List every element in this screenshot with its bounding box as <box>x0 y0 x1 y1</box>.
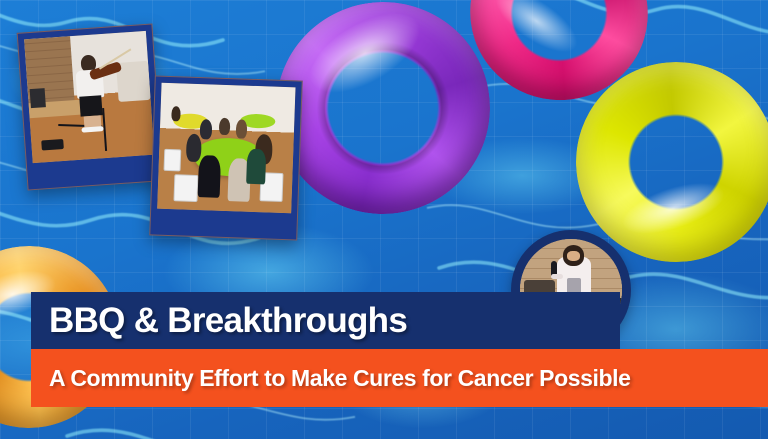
subtitle-banner: A Community Effort to Make Cures for Can… <box>31 349 768 407</box>
attendee <box>198 155 221 199</box>
poster-title: BBQ & Breakthroughs <box>49 301 407 341</box>
tables-photo-image <box>157 83 295 214</box>
violin-scene <box>24 31 154 163</box>
violinist-shorts <box>79 95 103 117</box>
amplifier <box>30 88 46 109</box>
speaker-arm <box>551 274 563 279</box>
tables-scene <box>157 83 295 214</box>
attendee <box>219 117 230 135</box>
attendee <box>200 119 213 140</box>
attendee <box>247 149 267 185</box>
poster-subtitle: A Community Effort to Make Cures for Can… <box>49 365 631 392</box>
violin-photo-image <box>24 31 154 163</box>
violinist-shoes <box>82 126 104 133</box>
folding-chair <box>164 148 181 171</box>
couch <box>116 61 150 103</box>
community-tables-photo <box>149 75 302 240</box>
attendee <box>171 106 181 121</box>
title-banner: BBQ & Breakthroughs <box>31 292 620 349</box>
floor-mat <box>41 139 64 150</box>
attendee <box>186 134 202 162</box>
speaker-face <box>567 251 580 261</box>
event-poster: BBQ & Breakthroughs A Community Effort t… <box>0 0 768 439</box>
violin-performance-photo <box>17 23 164 190</box>
folding-chair <box>174 174 198 202</box>
attendee <box>236 119 247 138</box>
